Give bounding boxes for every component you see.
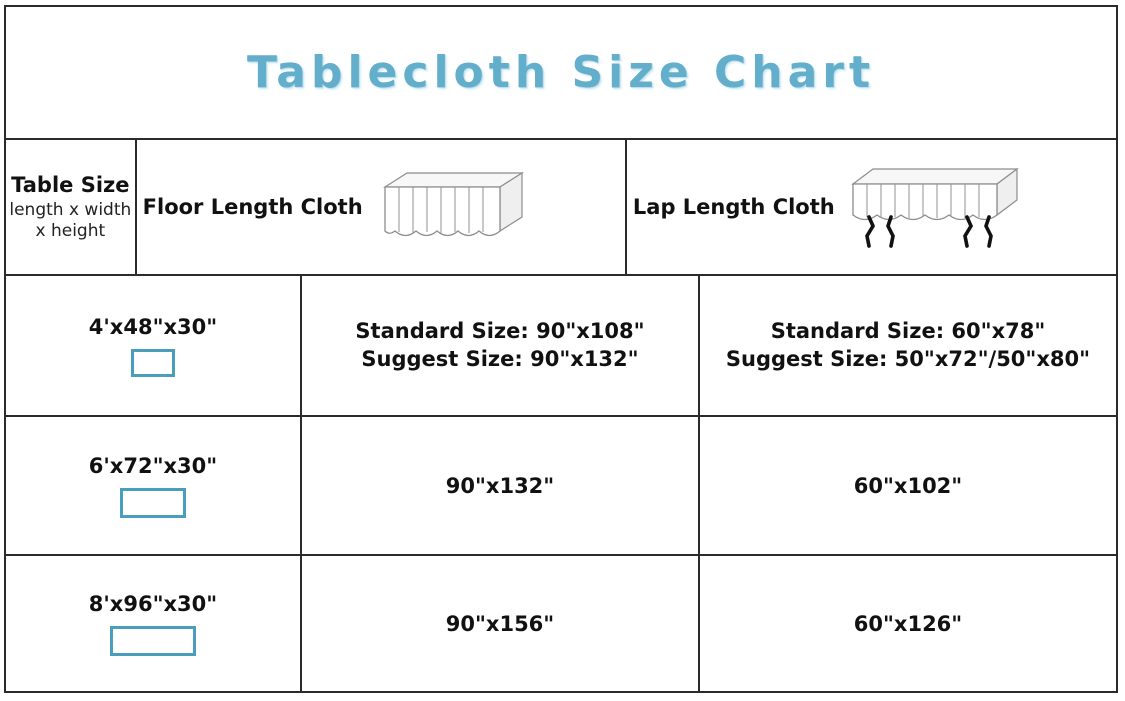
cell-floor-length: Standard Size: 90"x108" Suggest Size: 90… (302, 276, 700, 415)
table-size-value: 8'x96"x30" (89, 592, 217, 616)
cell-table-size: 6'x72"x30" (6, 417, 302, 554)
cell-floor-length: 90"x132" (302, 417, 700, 554)
cell-lap-length: 60"x126" (700, 556, 1116, 692)
size-chart-card: Tablecloth Size Chart Table Size length … (4, 5, 1118, 693)
lap-size-value: 60"x102" (854, 474, 963, 498)
cell-lap-length: Standard Size: 60"x78" Suggest Size: 50"… (700, 276, 1116, 415)
header-lap-length-label: Lap Length Cloth (633, 195, 835, 219)
header-table-size-label: Table Size (6, 172, 135, 198)
cell-table-size: 4'x48"x30" (6, 276, 302, 415)
header-cell-table-size: Table Size length x width x height (6, 140, 137, 274)
table-row: 4'x48"x30" Standard Size: 90"x108" Sugge… (6, 276, 1116, 417)
table-size-value: 6'x72"x30" (89, 454, 217, 478)
table-header-row: Table Size length x width x height Floor… (6, 140, 1116, 276)
lap-size-value: 60"x126" (854, 612, 963, 636)
cell-lap-length: 60"x102" (700, 417, 1116, 554)
floor-length-tablecloth-icon (367, 165, 527, 250)
floor-size-value: 90"x132" (446, 474, 555, 498)
cell-table-size: 8'x96"x30" (6, 556, 302, 692)
page-title: Tablecloth Size Chart (247, 47, 875, 98)
table-proportion-swatch (120, 488, 186, 518)
floor-size-value: 90"x156" (446, 612, 555, 636)
title-band: Tablecloth Size Chart (6, 7, 1116, 140)
header-table-size-sublabel: length x width x height (6, 200, 135, 243)
cell-floor-length: 90"x156" (302, 556, 700, 692)
header-cell-floor-length: Floor Length Cloth (137, 140, 627, 274)
header-floor-length-label: Floor Length Cloth (143, 195, 363, 219)
table-row: 6'x72"x30" 90"x132" 60"x102" (6, 417, 1116, 556)
header-cell-lap-length: Lap Length Cloth (627, 140, 1116, 274)
size-chart-table: Table Size length x width x height Floor… (6, 140, 1116, 691)
table-size-value: 4'x48"x30" (89, 315, 217, 339)
lap-suggest-size: Suggest Size: 50"x72"/50"x80" (726, 346, 1090, 373)
lap-length-tablecloth-icon (839, 160, 1024, 255)
floor-standard-size: Standard Size: 90"x108" (355, 318, 644, 345)
floor-suggest-size: Suggest Size: 90"x132" (355, 346, 644, 373)
lap-standard-size: Standard Size: 60"x78" (726, 318, 1090, 345)
table-proportion-swatch (131, 349, 175, 377)
table-proportion-swatch (110, 626, 196, 656)
table-row: 8'x96"x30" 90"x156" 60"x126" (6, 556, 1116, 692)
